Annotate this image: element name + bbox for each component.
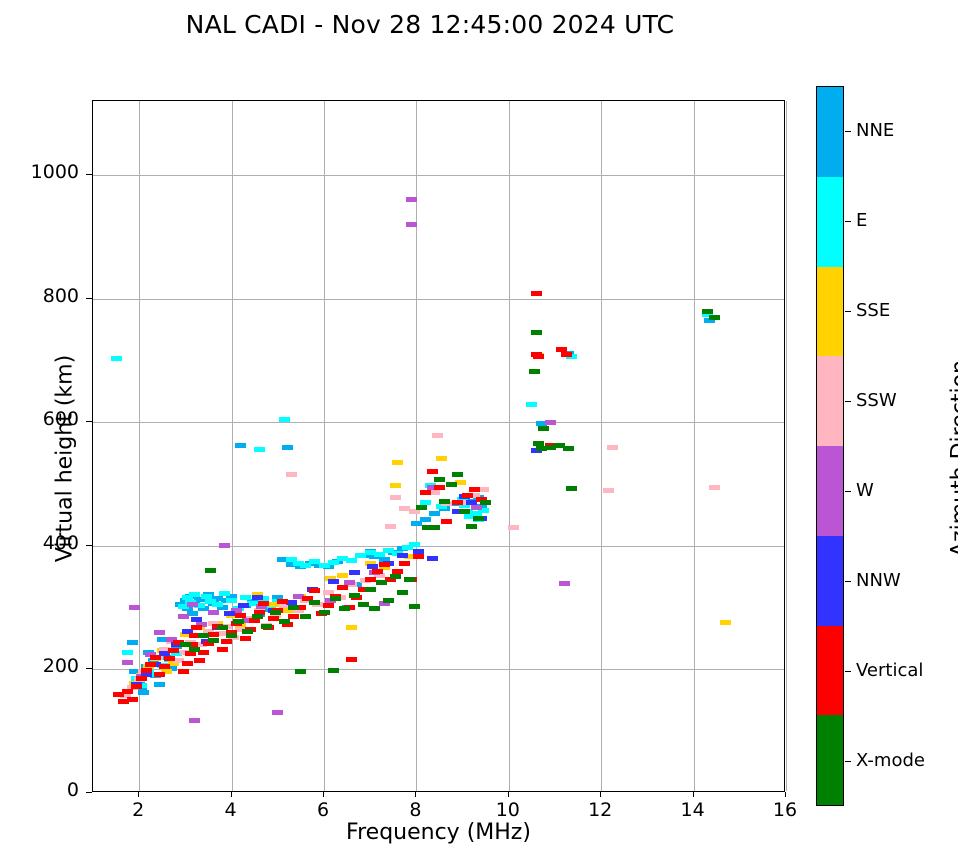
scatter-point-e xyxy=(122,650,133,655)
colorbar xyxy=(816,86,844,806)
scatter-point-nne xyxy=(420,517,431,522)
scatter-point-e xyxy=(212,602,223,607)
y-tick-label: 0 xyxy=(0,779,79,801)
colorbar-label-e: E xyxy=(856,210,867,231)
scatter-point-vertical xyxy=(185,651,196,656)
scatter-point-vertical xyxy=(136,676,147,681)
colorbar-label-ssw: SSW xyxy=(856,390,897,411)
scatter-point-nnw xyxy=(349,570,360,575)
colorbar-segment-nne xyxy=(817,87,843,177)
x-tick xyxy=(693,792,694,797)
scatter-point-ssw xyxy=(603,488,614,493)
scatter-point-e xyxy=(189,592,200,597)
scatter-point-vertical xyxy=(235,613,246,618)
scatter-point-vertical xyxy=(194,658,205,663)
scatter-point-x-mode xyxy=(459,509,470,514)
y-axis-label: Virtual height (km) xyxy=(53,259,78,659)
scatter-point-ssw xyxy=(432,433,443,438)
scatter-point-x-mode xyxy=(208,638,219,643)
scatter-point-x-mode xyxy=(261,624,272,629)
scatter-point-nne xyxy=(429,511,440,516)
scatter-point-x-mode xyxy=(349,593,360,598)
scatter-point-w xyxy=(178,614,189,619)
scatter-point-vertical xyxy=(441,519,452,524)
scatter-point-x-mode xyxy=(531,330,542,335)
scatter-point-vertical xyxy=(159,664,170,669)
scatter-point-vertical xyxy=(533,354,544,359)
scatter-point-vertical xyxy=(122,689,133,694)
scatter-point-vertical xyxy=(150,655,161,660)
scatter-point-x-mode xyxy=(369,606,380,611)
scatter-point-x-mode xyxy=(390,574,401,579)
colorbar-label-x-mode: X-mode xyxy=(856,750,925,771)
scatter-point-e xyxy=(374,552,385,557)
scatter-point-sse xyxy=(337,573,348,578)
colorbar-tick xyxy=(845,761,851,762)
scatter-point-vertical xyxy=(462,493,473,498)
scatter-point-w xyxy=(545,420,556,425)
colorbar-tick xyxy=(845,401,851,402)
scatter-point-vertical xyxy=(337,585,348,590)
scatter-point-vertical xyxy=(561,352,572,357)
scatter-point-w xyxy=(189,718,200,723)
x-tick xyxy=(600,792,601,797)
y-tick xyxy=(86,545,92,546)
colorbar-segment-e xyxy=(817,177,843,267)
scatter-point-x-mode xyxy=(252,614,263,619)
scatter-point-x-mode xyxy=(189,647,200,652)
scatter-point-ssw xyxy=(385,524,396,529)
y-tick xyxy=(86,298,92,299)
x-tick xyxy=(231,792,232,797)
scatter-point-ssw xyxy=(607,445,618,450)
scatter-point-w xyxy=(208,610,219,615)
scatter-point-x-mode xyxy=(288,605,299,610)
scatter-point-x-mode xyxy=(383,598,394,603)
scatter-point-vertical xyxy=(469,487,480,492)
scatter-point-e xyxy=(254,447,265,452)
scatter-point-nne xyxy=(411,521,422,526)
scatter-point-x-mode xyxy=(429,525,440,530)
scatter-point-x-mode xyxy=(452,472,463,477)
scatter-point-x-mode xyxy=(702,309,713,314)
scatter-point-e xyxy=(240,595,251,600)
scatter-point-vertical xyxy=(141,668,152,673)
colorbar-segment-sse xyxy=(817,267,843,357)
y-tick xyxy=(86,668,92,669)
x-tick xyxy=(323,792,324,797)
colorbar-label-nne: NNE xyxy=(856,120,894,141)
scatter-point-x-mode xyxy=(446,482,457,487)
scatter-point-sse xyxy=(390,483,401,488)
scatter-point-vertical xyxy=(346,657,357,662)
x-tick-label: 10 xyxy=(478,799,538,821)
scatter-point-vertical xyxy=(164,656,175,661)
x-axis-label: Frequency (MHz) xyxy=(92,820,785,845)
scatter-point-ssw xyxy=(286,472,297,477)
scatter-point-x-mode xyxy=(279,619,290,624)
scatter-point-nnw xyxy=(191,617,202,622)
scatter-point-nne xyxy=(127,640,138,645)
x-tick-label: 8 xyxy=(385,799,445,821)
x-tick-label: 16 xyxy=(755,799,815,821)
scatter-point-x-mode xyxy=(480,500,491,505)
scatter-point-x-mode xyxy=(376,580,387,585)
scatter-point-e xyxy=(111,356,122,361)
y-tick xyxy=(86,792,92,793)
scatter-point-nnw xyxy=(224,611,235,616)
y-tick-label: 1000 xyxy=(0,161,79,183)
scatter-point-x-mode xyxy=(434,477,445,482)
scatter-point-vertical xyxy=(452,500,463,505)
scatter-point-w xyxy=(154,630,165,635)
scatter-point-vertical xyxy=(427,469,438,474)
scatter-point-sse xyxy=(436,456,447,461)
scatter-point-x-mode xyxy=(365,587,376,592)
scatter-point-vertical xyxy=(168,648,179,653)
scatter-point-w xyxy=(219,543,230,548)
scatter-point-x-mode xyxy=(319,610,330,615)
colorbar-label-nnw: NNW xyxy=(856,570,901,591)
scatter-point-vertical xyxy=(531,291,542,296)
scatter-point-vertical xyxy=(240,636,251,641)
plot-area xyxy=(92,100,785,792)
scatter-point-x-mode xyxy=(242,629,253,634)
scatter-point-x-mode xyxy=(295,669,306,674)
scatter-point-ssw xyxy=(390,495,401,500)
x-tick xyxy=(508,792,509,797)
scatter-point-nnw xyxy=(328,579,339,584)
scatter-point-vertical xyxy=(178,669,189,674)
scatter-point-x-mode xyxy=(563,446,574,451)
x-tick xyxy=(415,792,416,797)
scatter-point-e xyxy=(226,598,237,603)
scatter-point-sse xyxy=(346,625,357,630)
scatter-point-nne xyxy=(138,690,149,695)
colorbar-tick xyxy=(845,221,851,222)
scatter-point-e xyxy=(279,417,290,422)
scatter-point-x-mode xyxy=(529,369,540,374)
scatter-point-x-mode xyxy=(439,499,450,504)
scatter-point-x-mode xyxy=(217,625,228,630)
scatter-point-w xyxy=(129,605,140,610)
scatter-point-vertical xyxy=(268,616,279,621)
x-tick-label: 2 xyxy=(108,799,168,821)
scatter-point-x-mode xyxy=(300,614,311,619)
scatter-point-vertical xyxy=(145,662,156,667)
scatter-point-e xyxy=(328,560,339,565)
scatter-point-e xyxy=(409,542,420,547)
scatter-point-x-mode xyxy=(538,426,549,431)
scatter-point-w xyxy=(406,197,417,202)
scatter-point-vertical xyxy=(309,588,320,593)
scatter-point-vertical xyxy=(127,697,138,702)
scatter-point-e xyxy=(346,558,357,563)
scatter-point-x-mode xyxy=(233,619,244,624)
scatter-point-e xyxy=(526,402,537,407)
colorbar-title: Azimuth Direction xyxy=(948,294,958,624)
scatter-point-x-mode xyxy=(466,524,477,529)
ionogram-figure: NAL CADI - Nov 28 12:45:00 2024 UTC 2468… xyxy=(0,0,958,857)
colorbar-label-sse: SSE xyxy=(856,300,890,321)
scatter-point-x-mode xyxy=(328,668,339,673)
x-tick-label: 6 xyxy=(293,799,353,821)
colorbar-tick xyxy=(845,131,851,132)
scatter-point-x-mode xyxy=(566,486,577,491)
scatter-point-nnw xyxy=(238,603,249,608)
scatter-point-nne xyxy=(282,445,293,450)
scatter-point-vertical xyxy=(420,490,431,495)
scatter-point-vertical xyxy=(221,639,232,644)
gridline-vertical xyxy=(786,101,787,791)
scatter-point-x-mode xyxy=(270,610,281,615)
scatter-point-vertical xyxy=(434,485,445,490)
scatter-point-x-mode xyxy=(205,568,216,573)
colorbar-tick xyxy=(845,671,851,672)
scatter-point-x-mode xyxy=(330,596,341,601)
scatter-point-ssw xyxy=(709,485,720,490)
scatter-point-w xyxy=(471,505,482,510)
y-tick-label: 200 xyxy=(0,655,79,677)
scatter-point-w xyxy=(187,602,198,607)
page-title: NAL CADI - Nov 28 12:45:00 2024 UTC xyxy=(0,10,860,39)
scatter-point-e xyxy=(219,591,230,596)
scatter-point-nnw xyxy=(252,595,263,600)
x-tick-label: 14 xyxy=(663,799,723,821)
colorbar-tick xyxy=(845,311,851,312)
scatter-point-nne xyxy=(235,443,246,448)
scatter-point-x-mode xyxy=(226,633,237,638)
colorbar-label-vertical: Vertical xyxy=(856,660,923,681)
scatter-point-vertical xyxy=(258,601,269,606)
scatter-point-ssw xyxy=(409,509,420,514)
x-tick-label: 12 xyxy=(570,799,630,821)
scatter-point-x-mode xyxy=(404,577,415,582)
scatter-point-w xyxy=(272,710,283,715)
scatter-point-nne xyxy=(154,682,165,687)
scatter-point-ssw xyxy=(508,525,519,530)
scatter-point-x-mode xyxy=(709,315,720,320)
scatter-point-vertical xyxy=(372,569,383,574)
x-tick xyxy=(138,792,139,797)
x-tick-label: 4 xyxy=(201,799,261,821)
scatter-point-w xyxy=(559,581,570,586)
colorbar-segment-x-mode xyxy=(817,715,843,805)
colorbar-segment-vertical xyxy=(817,626,843,716)
scatter-point-x-mode xyxy=(358,602,369,607)
scatter-point-x-mode xyxy=(309,600,320,605)
x-tick xyxy=(785,792,786,797)
scatter-point-w xyxy=(406,222,417,227)
scatter-point-vertical xyxy=(277,599,288,604)
scatter-point-sse xyxy=(720,620,731,625)
colorbar-segment-nnw xyxy=(817,536,843,626)
scatter-point-x-mode xyxy=(473,516,484,521)
scatter-point-x-mode xyxy=(397,590,408,595)
colorbar-segment-w xyxy=(817,446,843,536)
scatter-point-w xyxy=(122,660,133,665)
scatter-point-vertical xyxy=(323,603,334,608)
scatter-point-vertical xyxy=(217,647,228,652)
scatter-point-x-mode xyxy=(339,606,350,611)
scatter-point-vertical xyxy=(182,661,193,666)
scatter-point-x-mode xyxy=(409,604,420,609)
scatter-point-vertical xyxy=(191,625,202,630)
scatter-point-vertical xyxy=(154,672,165,677)
y-tick xyxy=(86,174,92,175)
scatter-point-vertical xyxy=(413,554,424,559)
scatter-point-vertical xyxy=(365,577,376,582)
scatter-points xyxy=(93,101,784,791)
scatter-point-nnw xyxy=(427,556,438,561)
scatter-point-sse xyxy=(392,460,403,465)
y-tick xyxy=(86,421,92,422)
scatter-point-nnw xyxy=(397,553,408,558)
scatter-point-vertical xyxy=(379,562,390,567)
scatter-point-vertical xyxy=(131,684,142,689)
scatter-point-x-mode xyxy=(416,505,427,510)
colorbar-tick xyxy=(845,491,851,492)
colorbar-tick xyxy=(845,581,851,582)
colorbar-label-w: W xyxy=(856,480,874,501)
colorbar-segment-ssw xyxy=(817,356,843,446)
scatter-point-vertical xyxy=(399,561,410,566)
